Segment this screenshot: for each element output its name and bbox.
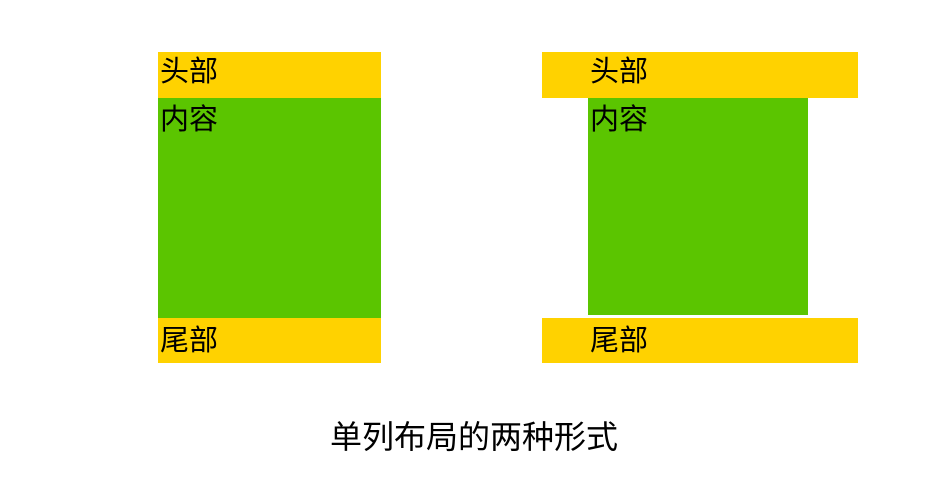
layout-b-header-label: 头部	[590, 57, 648, 86]
layout-b-content-label: 内容	[590, 105, 648, 134]
layout-b-footer-label: 尾部	[590, 326, 648, 355]
diagram-canvas: 头部 内容 尾部 头部 内容 尾部 单列布局的两种形式	[0, 0, 948, 488]
layout-a-header-label: 头部	[160, 57, 218, 86]
layout-a-footer-label: 尾部	[160, 326, 218, 355]
diagram-caption: 单列布局的两种形式	[0, 418, 948, 456]
layout-a-content-label: 内容	[160, 105, 218, 134]
